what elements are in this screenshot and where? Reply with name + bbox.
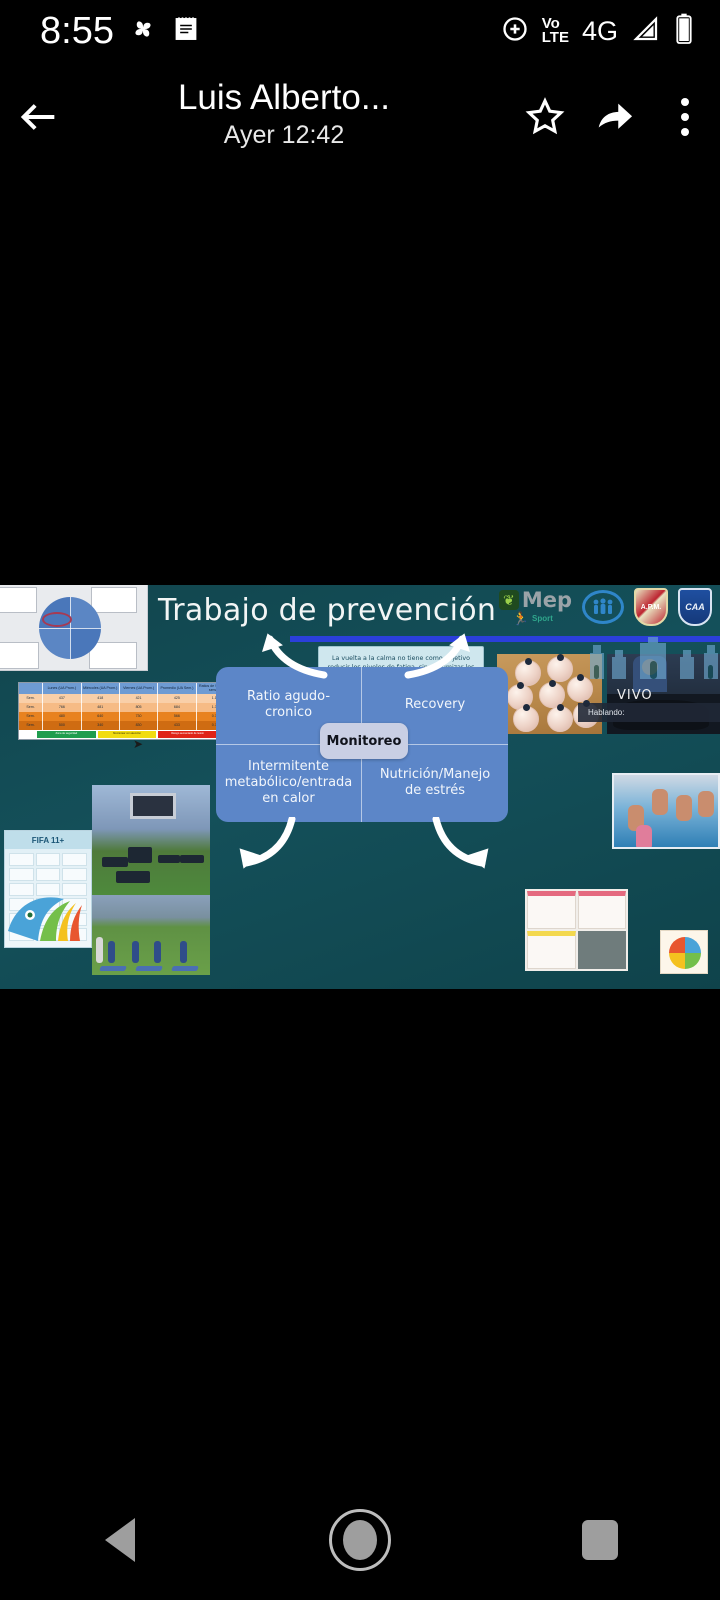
speaker-label: Hablando:	[578, 703, 720, 722]
more-vertical-icon	[681, 98, 689, 136]
diagram-circle	[39, 597, 101, 659]
table-row: Sem. 437 418 421 425 1.15	[19, 694, 235, 703]
status-clock: 8:55	[40, 12, 114, 50]
stadium-photo	[92, 785, 210, 895]
notepad-icon	[172, 15, 200, 48]
app-bar-titles: Luis Alberto... Ayer 12:42	[62, 80, 510, 154]
sponsor-logos: ❦ Mep 🏃 Sport A.P.M. CAA	[499, 588, 712, 626]
table-legend: Zona de seguridad Monitorear con atenció…	[19, 730, 235, 739]
monitoring-center-chip: Monitoreo	[320, 723, 408, 759]
diagram-note	[0, 642, 39, 669]
table-cell: 481	[82, 703, 120, 712]
mep-leaf-icon: ❦	[499, 590, 519, 610]
app-bar-actions	[510, 82, 720, 152]
volte-icon: Vo LTE	[542, 17, 569, 46]
mep-wordmark: Mep	[522, 590, 572, 611]
screen-record-icon	[501, 15, 529, 48]
runner-icon: 🏃	[513, 612, 529, 625]
table-cell: Sem.	[19, 703, 43, 712]
diagram-highlight-ellipse	[42, 612, 72, 627]
arrow-bottom-left-icon	[230, 817, 308, 873]
diagram-note	[89, 642, 137, 669]
back-arrow-icon	[16, 94, 62, 140]
people-icon	[591, 598, 615, 616]
table-cell: 830	[120, 721, 158, 730]
fifa-caption: FIFA 11+	[5, 831, 91, 849]
nutrition-poster	[527, 891, 576, 929]
table-cell: 805	[120, 703, 158, 712]
diagram-note	[91, 587, 137, 613]
table-header-cell	[19, 683, 43, 694]
signal-icon	[631, 14, 661, 49]
battery-icon	[674, 13, 694, 50]
table-cell: 433	[158, 721, 196, 730]
network-4g-icon: 4G	[582, 18, 618, 45]
training-session-photo	[92, 895, 210, 975]
table-cell: 480	[43, 712, 81, 721]
scoreboard	[130, 793, 176, 819]
table-cell: 684	[158, 703, 196, 712]
table-cell: 566	[158, 712, 196, 721]
castle-watermark-icon	[590, 637, 720, 681]
table-row: Sem. 766 481 805 684 1.32	[19, 703, 235, 712]
overflow-menu-button[interactable]	[650, 82, 720, 152]
page-subtitle: Ayer 12:42	[224, 117, 344, 155]
arrow-bottom-right-icon	[420, 817, 498, 873]
club-shield-1-logo: A.P.M.	[634, 588, 668, 626]
page-title: Luis Alberto...	[178, 80, 390, 117]
nav-recents-square-icon	[582, 1520, 618, 1560]
diagram-note	[0, 587, 37, 613]
nav-home-circle-icon	[329, 1509, 391, 1571]
table-cell: 425	[158, 694, 196, 703]
table-header-cell: Lunes (UA Prom.)	[43, 683, 81, 694]
legend-risk: Riesgo aumentado de lesión	[158, 731, 217, 738]
food-plate-graphic	[660, 930, 708, 974]
club-shield-2-logo: CAA	[678, 588, 712, 626]
status-bar-left: 8:55	[40, 12, 200, 50]
legend-safe: Zona de seguridad	[37, 731, 96, 738]
colored-wave-logo-icon	[6, 885, 94, 947]
workload-table: Lunes (UA Prom.) Miércoles (UA Prom.) Vi…	[18, 682, 236, 740]
plate-circle-icon	[669, 937, 701, 969]
phone-screen: 8:55	[0, 0, 720, 1600]
volte-bottom-label: LTE	[542, 31, 569, 45]
mouse-cursor-icon: ➤	[133, 737, 143, 751]
mep-sport-label: Sport	[532, 614, 553, 623]
nav-back-button[interactable]	[60, 1480, 180, 1600]
presentation-slide-image: Trabajo de prevención Lunes (UA Prom.) M…	[0, 585, 720, 989]
table-cell: 500	[43, 721, 81, 730]
family-circle-logo	[582, 590, 624, 624]
legend-watch: Monitorear con atención	[98, 731, 157, 738]
pinwheel-icon	[128, 14, 158, 49]
table-header-cell: Promedio (UA Sem.)	[158, 683, 196, 694]
table-cell: 766	[43, 703, 81, 712]
table-header-cell: Viernes (UA Prom.)	[120, 683, 158, 694]
table-header-row: Lunes (UA Prom.) Miércoles (UA Prom.) Vi…	[19, 683, 235, 694]
arrow-top-left-icon	[254, 623, 332, 679]
table-header-cell: Miércoles (UA Prom.)	[82, 683, 120, 694]
table-row: Sem. 480 640 730 566 0.79	[19, 712, 235, 721]
pool-recovery-photo	[612, 773, 720, 849]
table-cell: 730	[120, 712, 158, 721]
table-cell: 437	[43, 694, 81, 703]
table-cell: Sem.	[19, 712, 43, 721]
star-outline-icon	[523, 95, 567, 139]
arrow-top-right-icon	[400, 623, 478, 679]
nutrition-poster-empty	[578, 931, 627, 969]
nutrition-posters	[525, 889, 628, 971]
table-cell: 418	[82, 694, 120, 703]
system-navigation-bar	[0, 1480, 720, 1600]
status-bar: 8:55	[0, 0, 720, 62]
nutrition-poster	[527, 931, 576, 969]
status-bar-right: Vo LTE 4G	[501, 13, 694, 50]
table-cell: 421	[120, 694, 158, 703]
mep-sport-logo: ❦ Mep 🏃 Sport	[499, 590, 572, 625]
table-cell: 340	[82, 721, 120, 730]
share-button[interactable]	[580, 82, 650, 152]
star-button[interactable]	[510, 82, 580, 152]
nav-back-triangle-icon	[105, 1518, 135, 1562]
cupping-therapy-photo	[497, 654, 602, 734]
forward-arrow-icon	[592, 94, 638, 140]
live-badge: VIVO	[617, 688, 653, 703]
table-cell: Sem.	[19, 721, 43, 730]
table-row: Sem. 500 340 830 433 0.76	[19, 721, 235, 730]
quadrant-diagram-thumbnail	[0, 585, 148, 671]
nav-recents-button[interactable]	[540, 1480, 660, 1600]
table-cell: 640	[82, 712, 120, 721]
table-cell: Sem.	[19, 694, 43, 703]
nav-home-button[interactable]	[300, 1480, 420, 1600]
nutrition-poster	[578, 891, 627, 929]
media-viewer[interactable]: Trabajo de prevención Lunes (UA Prom.) M…	[0, 585, 720, 989]
app-bar: Luis Alberto... Ayer 12:42	[0, 62, 720, 172]
